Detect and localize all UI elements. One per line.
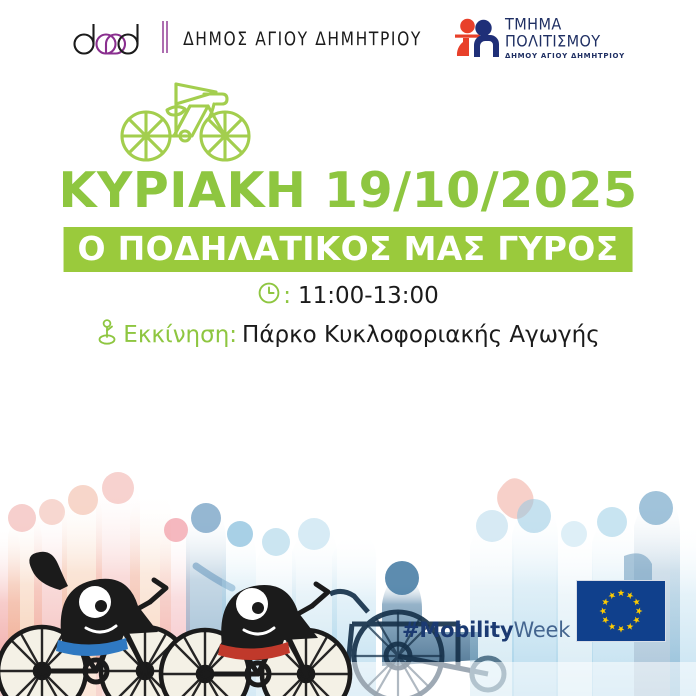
event-time-value: 11:00-13:00 bbox=[298, 283, 439, 309]
culture-department-text: ΤΜΗΜΑ ΠΟΛΙΤΙΣΜΟΥ ΔΗΜΟΥ ΑΓΙΟΥ ΔΗΜΗΤΡΙΟΥ bbox=[505, 18, 625, 60]
event-time-row: : 11:00-13:00 bbox=[0, 281, 696, 310]
culture-line-3: ΔΗΜΟΥ ΑΓΙΟΥ ΔΗΜΗΤΡΙΟΥ bbox=[505, 53, 625, 60]
municipality-name: ΔΗΜΟΣ ΑΓΙΟΥ ΔΗΜΗΤΡΙΟΥ bbox=[183, 28, 422, 49]
event-place-row: Εκκίνηση: Πάρκο Κυκλοφοριακής Αγωγής bbox=[0, 318, 696, 351]
logo-separator-icon bbox=[161, 20, 169, 59]
event-date-line: ΚΥΡΙΑΚΗ 19/10/2025 bbox=[0, 166, 696, 215]
culture-line-2: ΠΟΛΙΤΙΣΜΟΥ bbox=[505, 34, 625, 50]
time-separator: : bbox=[283, 283, 291, 309]
mobility-week-logo: #MobilityWeek bbox=[402, 618, 570, 642]
poster-canvas: ΔΗΜΟΣ ΑΓΙΟΥ ΔΗΜΗΤΡΙΟΥ bbox=[0, 0, 696, 696]
event-place-label: Εκκίνηση: bbox=[123, 322, 237, 348]
mobility-week-hash: #Mobility bbox=[402, 618, 513, 642]
location-pin-person-icon bbox=[96, 318, 118, 351]
european-union-flag bbox=[576, 580, 666, 642]
culture-line-1: ΤΜΗΜΑ bbox=[505, 17, 625, 33]
two-figures-icon bbox=[452, 13, 500, 66]
clock-icon bbox=[257, 281, 281, 310]
event-subtitle-band: Ο ΠΟΔΗΛΑΤΙΚΟΣ ΜΑΣ ΓΥΡΟΣ bbox=[64, 227, 633, 272]
bicycle-with-flag-icon bbox=[112, 78, 262, 164]
event-place-value: Πάρκο Κυκλοφοριακής Αγωγής bbox=[242, 322, 600, 348]
mobility-week-tail: Week bbox=[513, 618, 570, 642]
header-logos-row: ΔΗΜΟΣ ΑΓΙΟΥ ΔΗΜΗΤΡΙΟΥ bbox=[71, 13, 625, 66]
poster-header: ΔΗΜΟΣ ΑΓΙΟΥ ΔΗΜΗΤΡΙΟΥ bbox=[0, 8, 696, 70]
dad-logo-icon bbox=[71, 17, 147, 62]
watercolor-crowd-silhouettes bbox=[0, 366, 696, 696]
culture-department-logo: ΤΜΗΜΑ ΠΟΛΙΤΙΣΜΟΥ ΔΗΜΟΥ ΑΓΙΟΥ ΔΗΜΗΤΡΙΟΥ bbox=[452, 13, 625, 66]
